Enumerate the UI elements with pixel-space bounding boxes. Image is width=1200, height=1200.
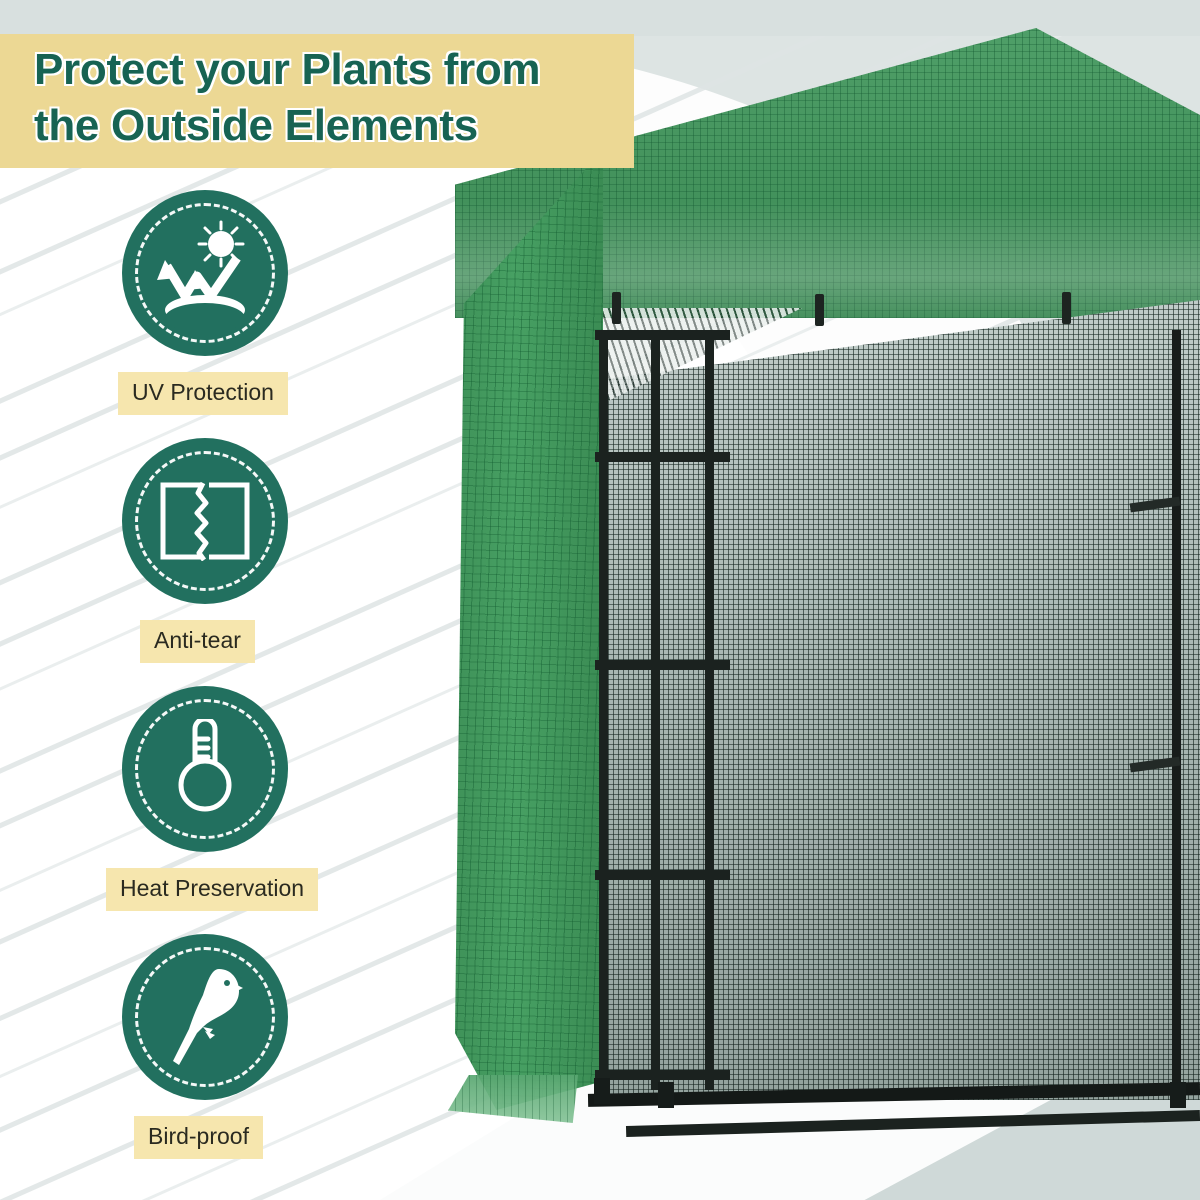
thermometer-icon bbox=[122, 686, 288, 852]
anti-tear-badge bbox=[122, 438, 288, 604]
feature-label-uv-protection: UV Protection bbox=[118, 372, 288, 415]
base-foot bbox=[594, 1078, 610, 1104]
bird-icon bbox=[122, 934, 288, 1100]
shelf-rail bbox=[595, 870, 730, 880]
uv-protection-badge bbox=[122, 190, 288, 356]
headline-line-2: the Outside Elements bbox=[0, 98, 634, 154]
greenhouse-shelving-unit bbox=[595, 330, 730, 1090]
shelf-rail bbox=[595, 1070, 730, 1080]
uv-sun-reflect-icon bbox=[122, 190, 288, 356]
greenhouse-skirt-flap bbox=[448, 1075, 578, 1123]
frame-post-right bbox=[1172, 330, 1181, 1100]
feature-label-heat-preservation: Heat Preservation bbox=[106, 868, 318, 911]
headline-line-1: Protect your Plants from bbox=[0, 42, 634, 98]
shelf-post bbox=[705, 330, 714, 1090]
feature-label-bird-proof: Bird-proof bbox=[134, 1116, 263, 1159]
greenhouse-product-image bbox=[390, 0, 1200, 1200]
eave-strap bbox=[1062, 292, 1071, 324]
marketing-image: Protect your Plants from the Outside Ele… bbox=[0, 0, 1200, 1200]
base-foot bbox=[1170, 1082, 1186, 1108]
eave-strap bbox=[612, 292, 621, 324]
base-rail-front bbox=[626, 1110, 1200, 1137]
greenhouse-side-panel bbox=[455, 150, 603, 1110]
fabric-tear-icon bbox=[122, 438, 288, 604]
eave-strap bbox=[815, 294, 824, 326]
shelf-rail bbox=[595, 330, 730, 340]
shelf-post bbox=[651, 330, 660, 1090]
bird-proof-badge bbox=[122, 934, 288, 1100]
shelf-post bbox=[599, 330, 608, 1090]
feature-label-anti-tear: Anti-tear bbox=[140, 620, 255, 663]
base-foot bbox=[658, 1082, 674, 1108]
heat-preservation-badge bbox=[122, 686, 288, 852]
shelf-rail bbox=[595, 452, 730, 462]
shelf-rail bbox=[595, 660, 730, 670]
headline-banner: Protect your Plants from the Outside Ele… bbox=[0, 34, 634, 168]
